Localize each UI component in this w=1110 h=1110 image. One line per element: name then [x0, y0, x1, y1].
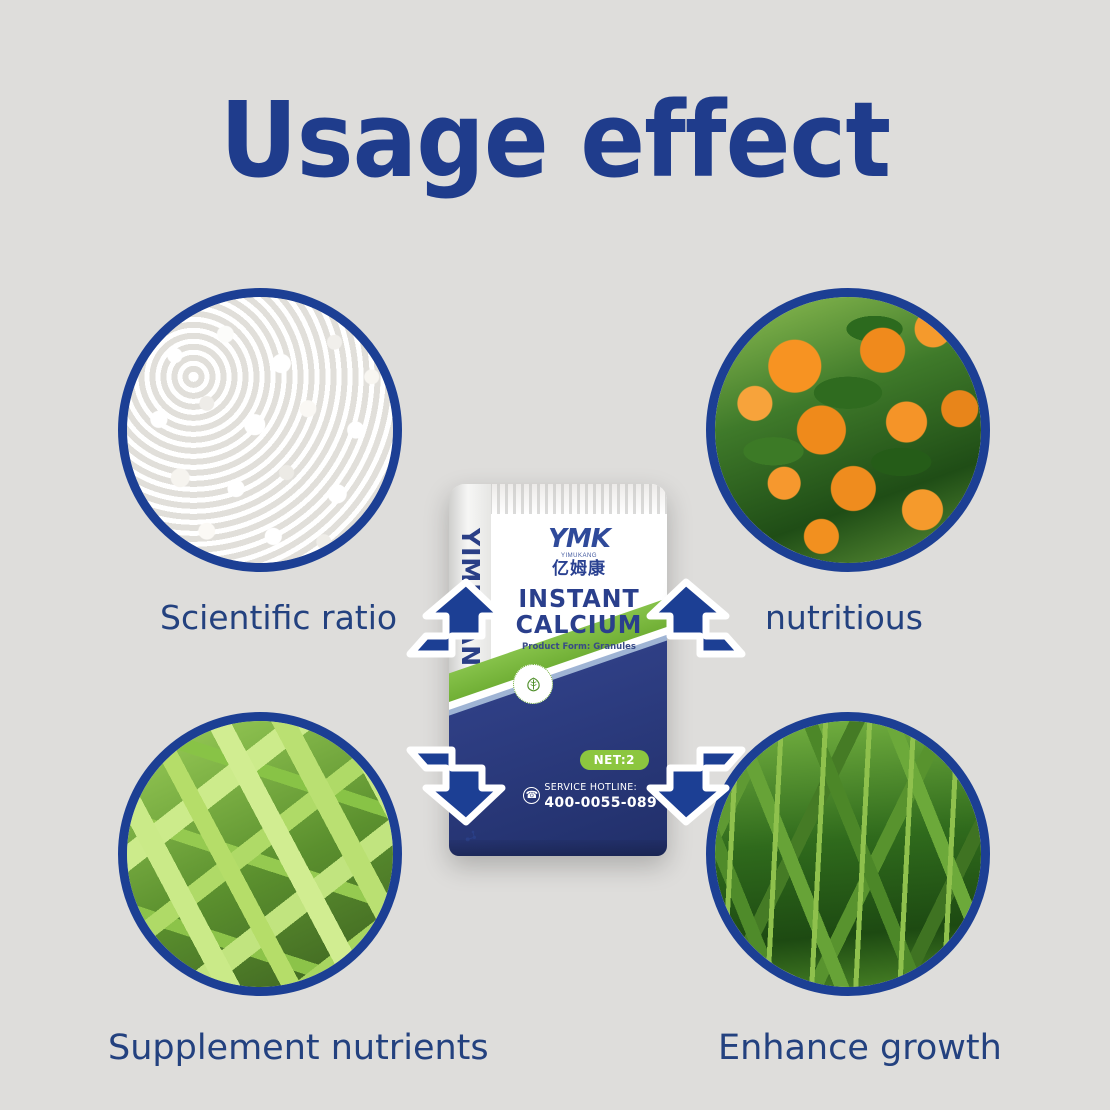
benefit-image-enhance-growth [706, 712, 990, 996]
page-title: Usage effect [44, 86, 1065, 195]
arrow-down-left-icon [404, 742, 522, 828]
benefit-label-nutritious: nutritious [765, 598, 923, 637]
benefit-label-enhance-growth: Enhance growth [718, 1028, 1002, 1068]
bag-bottom-seam [449, 840, 667, 856]
orange-citrus-tree-photo [715, 297, 981, 563]
green-soybean-pods-photo [127, 721, 393, 987]
brand-logo-latin: YMK [491, 526, 667, 552]
infographic-canvas: Usage effect Scientific ratio nutritious… [0, 0, 1110, 1110]
white-fertilizer-granules-photo [127, 297, 393, 563]
benefit-image-supplement-nutrients [118, 712, 402, 996]
benefit-label-supplement-nutrients: Supplement nutrients [108, 1028, 489, 1068]
service-hotline-label: SERVICE HOTLINE: [544, 782, 637, 793]
arrow-up-right-icon [630, 576, 748, 662]
arrow-down-right-icon [630, 742, 748, 828]
phone-icon: ☎ [523, 787, 540, 804]
leaf-icon [525, 676, 542, 693]
benefit-image-scientific-ratio [118, 288, 402, 572]
arrow-up-left-icon [404, 576, 522, 662]
benefit-label-scientific-ratio: Scientific ratio [160, 598, 397, 637]
benefit-image-nutritious [706, 288, 990, 572]
high-quality-seal [513, 664, 553, 704]
brand-logo: YMK YIMUKANG 亿姆康 [491, 526, 667, 578]
corn-maize-field-photo [715, 721, 981, 987]
